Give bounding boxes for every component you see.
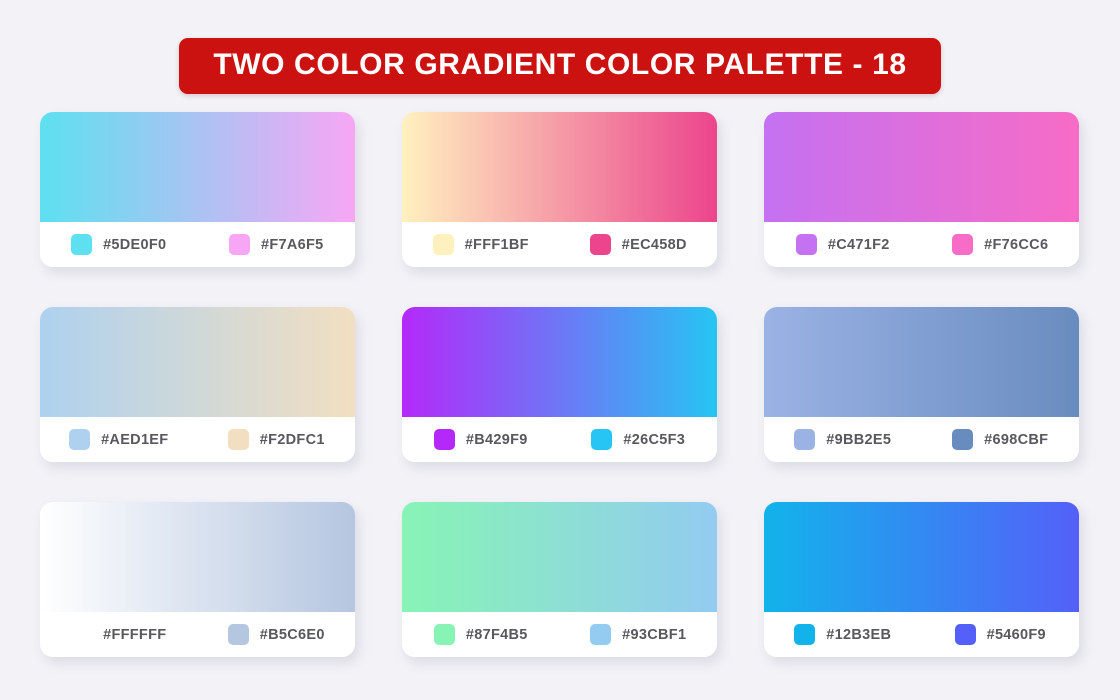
swatch-strip: #FFF1BF#EC458D <box>402 222 717 267</box>
color-swatch-start[interactable] <box>71 624 92 645</box>
color-hex-label-end: #93CBF1 <box>622 627 686 643</box>
swatch-group-end[interactable]: #698CBF <box>922 429 1080 450</box>
color-swatch-end[interactable] <box>955 624 976 645</box>
color-hex-label-end: #F76CC6 <box>984 237 1048 253</box>
gradient-preview <box>402 112 717 222</box>
color-swatch-start[interactable] <box>796 234 817 255</box>
color-swatch-start[interactable] <box>794 429 815 450</box>
gradient-preview <box>764 307 1079 417</box>
palette-card[interactable]: #5DE0F0#F7A6F5 <box>40 112 355 267</box>
gradient-preview <box>40 502 355 612</box>
color-swatch-start[interactable] <box>434 624 455 645</box>
color-hex-label-start: #12B3EB <box>826 627 891 643</box>
gradient-preview <box>40 307 355 417</box>
color-hex-label-start: #9BB2E5 <box>826 432 891 448</box>
page-title-banner: TWO COLOR GRADIENT COLOR PALETTE - 18 <box>179 38 940 94</box>
color-hex-label-end: #B5C6E0 <box>260 627 325 643</box>
swatch-strip: #FFFFFF#B5C6E0 <box>40 612 355 657</box>
palette-card[interactable]: #87F4B5#93CBF1 <box>402 502 717 657</box>
swatch-strip: #9BB2E5#698CBF <box>764 417 1079 462</box>
swatch-group-start[interactable]: #9BB2E5 <box>764 429 922 450</box>
swatch-group-start[interactable]: #AED1EF <box>40 429 198 450</box>
gradient-preview <box>764 502 1079 612</box>
color-hex-label-end: #698CBF <box>984 432 1048 448</box>
gradient-preview <box>764 112 1079 222</box>
swatch-group-start[interactable]: #FFFFFF <box>40 624 198 645</box>
color-hex-label-start: #B429F9 <box>466 432 528 448</box>
palette-card[interactable]: #12B3EB#5460F9 <box>764 502 1079 657</box>
gradient-preview <box>402 502 717 612</box>
swatch-strip: #AED1EF#F2DFC1 <box>40 417 355 462</box>
color-swatch-end[interactable] <box>229 234 250 255</box>
page-title: TWO COLOR GRADIENT COLOR PALETTE - 18 <box>213 50 906 80</box>
swatch-group-end[interactable]: #F2DFC1 <box>198 429 356 450</box>
swatch-group-end[interactable]: #93CBF1 <box>560 624 718 645</box>
palette-card[interactable]: #9BB2E5#698CBF <box>764 307 1079 462</box>
swatch-group-end[interactable]: #F7A6F5 <box>198 234 356 255</box>
palette-card[interactable]: #FFF1BF#EC458D <box>402 112 717 267</box>
color-swatch-start[interactable] <box>69 429 90 450</box>
swatch-group-start[interactable]: #12B3EB <box>764 624 922 645</box>
color-swatch-end[interactable] <box>952 429 973 450</box>
palette-card[interactable]: #AED1EF#F2DFC1 <box>40 307 355 462</box>
color-swatch-start[interactable] <box>794 624 815 645</box>
color-swatch-end[interactable] <box>590 234 611 255</box>
gradient-preview <box>40 112 355 222</box>
color-hex-label-end: #26C5F3 <box>623 432 685 448</box>
swatch-group-end[interactable]: #EC458D <box>560 234 718 255</box>
color-hex-label-end: #F2DFC1 <box>260 432 325 448</box>
color-swatch-end[interactable] <box>228 624 249 645</box>
color-hex-label-start: #AED1EF <box>101 432 168 448</box>
color-swatch-start[interactable] <box>434 429 455 450</box>
swatch-group-start[interactable]: #5DE0F0 <box>40 234 198 255</box>
color-hex-label-start: #5DE0F0 <box>103 237 166 253</box>
palette-grid: #5DE0F0#F7A6F5#FFF1BF#EC458D#C471F2#F76C… <box>40 112 1080 657</box>
swatch-group-end[interactable]: #5460F9 <box>922 624 1080 645</box>
palette-card[interactable]: #C471F2#F76CC6 <box>764 112 1079 267</box>
color-hex-label-end: #F7A6F5 <box>261 237 324 253</box>
swatch-strip: #5DE0F0#F7A6F5 <box>40 222 355 267</box>
swatch-strip: #C471F2#F76CC6 <box>764 222 1079 267</box>
color-hex-label-start: #FFFFFF <box>103 627 166 643</box>
color-hex-label-start: #FFF1BF <box>465 237 529 253</box>
color-swatch-start[interactable] <box>433 234 454 255</box>
swatch-group-start[interactable]: #FFF1BF <box>402 234 560 255</box>
color-swatch-end[interactable] <box>952 234 973 255</box>
swatch-strip: #B429F9#26C5F3 <box>402 417 717 462</box>
swatch-group-end[interactable]: #26C5F3 <box>560 429 718 450</box>
swatch-group-end[interactable]: #F76CC6 <box>922 234 1080 255</box>
color-hex-label-start: #87F4B5 <box>466 627 528 643</box>
swatch-group-end[interactable]: #B5C6E0 <box>198 624 356 645</box>
palette-card[interactable]: #B429F9#26C5F3 <box>402 307 717 462</box>
color-hex-label-start: #C471F2 <box>828 237 890 253</box>
color-swatch-end[interactable] <box>590 624 611 645</box>
swatch-group-start[interactable]: #87F4B5 <box>402 624 560 645</box>
palette-card[interactable]: #FFFFFF#B5C6E0 <box>40 502 355 657</box>
swatch-group-start[interactable]: #C471F2 <box>764 234 922 255</box>
page-title-banner-wrapper: TWO COLOR GRADIENT COLOR PALETTE - 18 <box>0 38 1120 94</box>
color-hex-label-end: #5460F9 <box>987 627 1046 643</box>
color-hex-label-end: #EC458D <box>622 237 687 253</box>
swatch-strip: #12B3EB#5460F9 <box>764 612 1079 657</box>
color-swatch-start[interactable] <box>71 234 92 255</box>
color-swatch-end[interactable] <box>591 429 612 450</box>
color-swatch-end[interactable] <box>228 429 249 450</box>
gradient-preview <box>402 307 717 417</box>
swatch-group-start[interactable]: #B429F9 <box>402 429 560 450</box>
swatch-strip: #87F4B5#93CBF1 <box>402 612 717 657</box>
